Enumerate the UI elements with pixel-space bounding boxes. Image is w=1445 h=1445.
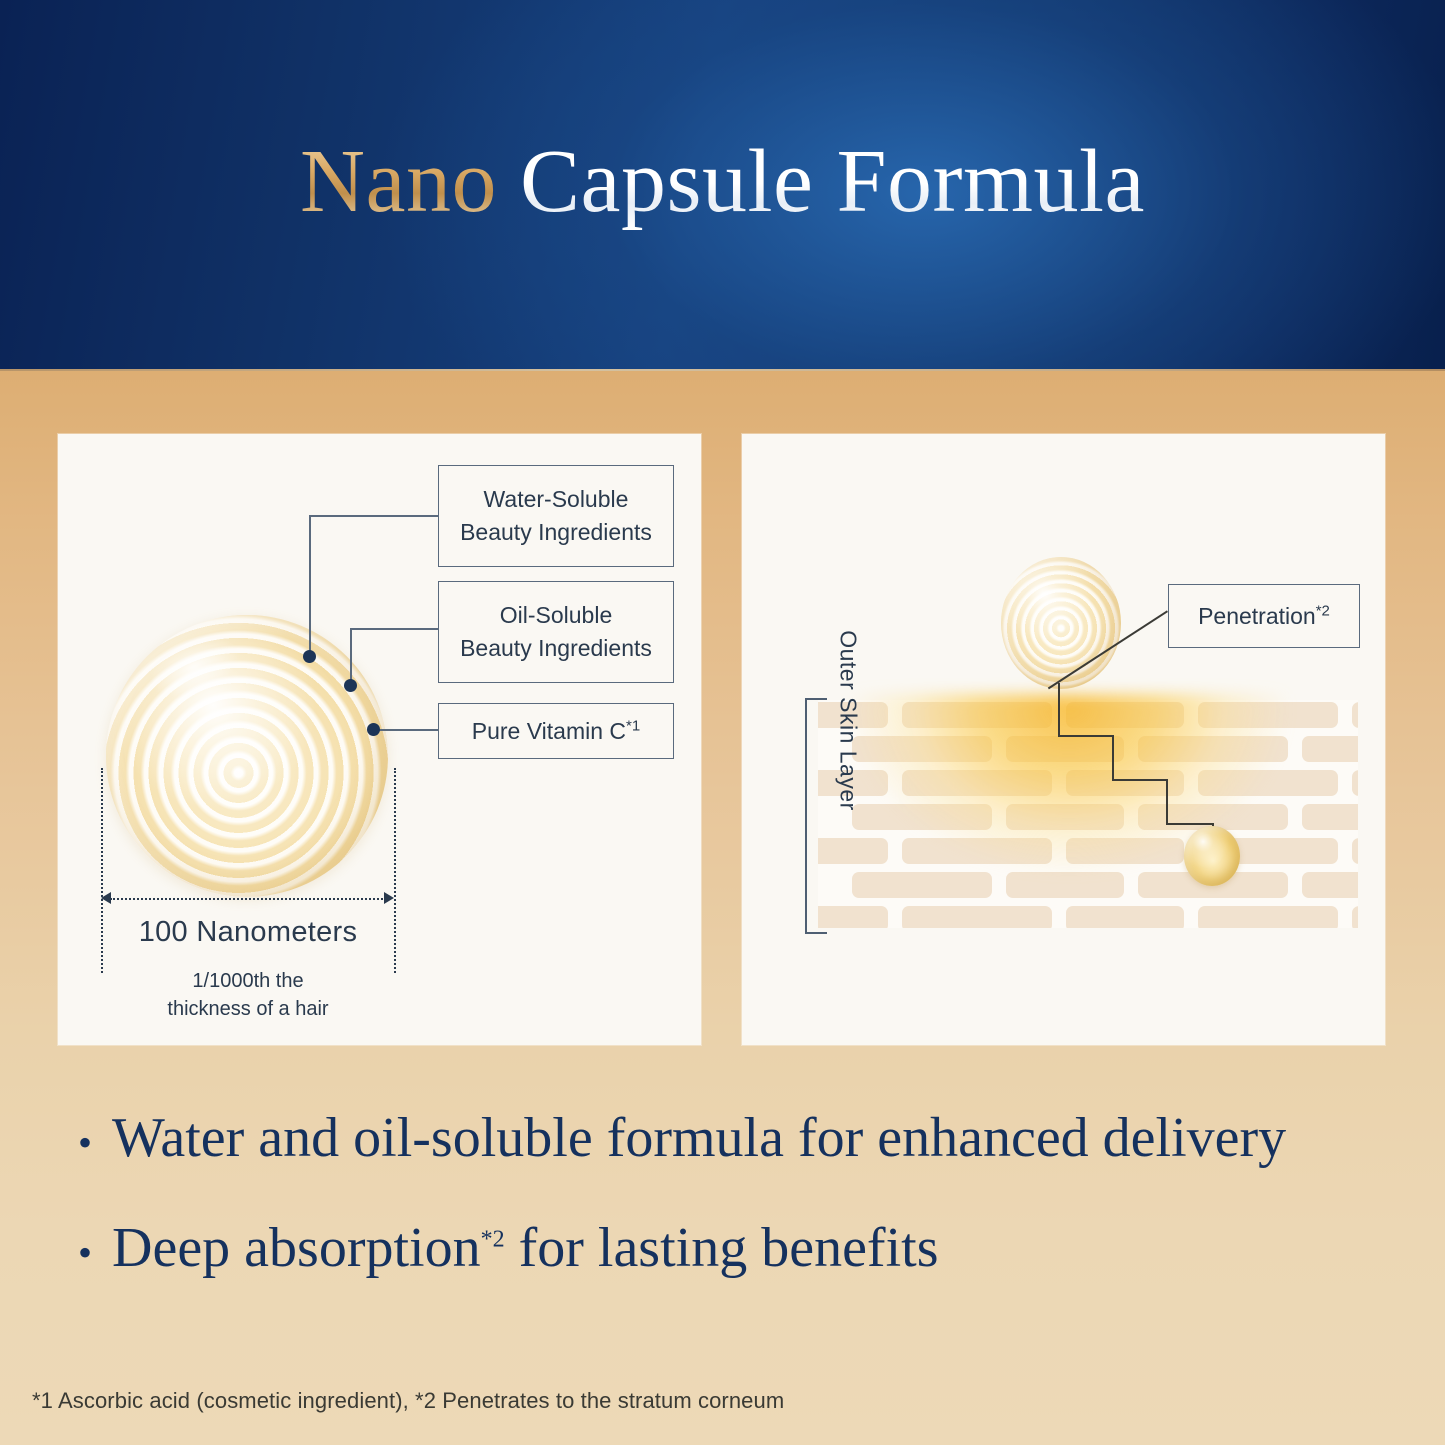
skin-brick (902, 702, 1052, 728)
path-seg-4-horizontal (1112, 779, 1168, 781)
infographic-page: Nano Capsule Formula Water-Soluble Beaut… (0, 0, 1445, 1445)
skin-brick (852, 804, 992, 830)
benefits-list: • Water and oil-soluble formula for enha… (78, 1108, 1378, 1279)
measure-sublabel-line2: thickness of a hair (167, 998, 328, 1020)
skin-brick (852, 736, 992, 762)
skin-brick (1198, 770, 1338, 796)
bullet-text-before: Deep absorption (112, 1217, 481, 1279)
bullet-footnote-marker: *2 (481, 1226, 505, 1252)
label-vitc-footnote-marker: *1 (626, 717, 640, 734)
bullet-marker: • (78, 1233, 92, 1273)
skin-brick (902, 838, 1052, 864)
bullet-marker: • (78, 1123, 92, 1163)
skin-layer-bracket (805, 698, 827, 934)
measure-arrow-right (384, 892, 394, 904)
label-water-soluble[interactable]: Water-Soluble Beauty Ingredients (438, 465, 674, 567)
label-oil-soluble-text: Oil-Soluble Beauty Ingredients (460, 599, 652, 664)
label-penetration-footnote-marker: *2 (1316, 602, 1330, 619)
label-vitc-main: Pure Vitamin C (472, 718, 626, 744)
skin-brick (1066, 702, 1184, 728)
label-penetration-main: Penetration (1198, 603, 1316, 629)
title-gold-word: Nano (300, 132, 497, 231)
skin-brick (1198, 702, 1338, 728)
connector-vitc-horizontal (373, 729, 439, 731)
label-penetration-text: Penetration*2 (1198, 600, 1330, 633)
path-seg-2-horizontal (1058, 735, 1114, 737)
skin-brick (852, 872, 992, 898)
label-water-line2: Beauty Ingredients (460, 519, 652, 545)
label-pure-vitamin-c[interactable]: Pure Vitamin C*1 (438, 703, 674, 759)
label-oil-line2: Beauty Ingredients (460, 635, 652, 661)
skin-brick (902, 770, 1052, 796)
skin-brick (818, 838, 888, 864)
measure-value: 100 Nanometers (100, 916, 396, 949)
connector-water-horizontal (309, 515, 439, 517)
connector-oil-horizontal (350, 628, 439, 630)
label-water-line1: Water-Soluble (484, 486, 629, 512)
skin-brick (818, 906, 888, 928)
label-oil-line1: Oil-Soluble (500, 602, 613, 628)
skin-brick (1352, 770, 1358, 796)
skin-brick (1006, 804, 1124, 830)
connector-dot-vitc (367, 723, 380, 736)
skin-brick (1302, 736, 1358, 762)
connector-dot-oil (344, 679, 357, 692)
measure-dimension-line (110, 898, 386, 900)
connector-dot-water (303, 650, 316, 663)
skin-brick (1302, 804, 1358, 830)
path-seg-1-vertical (1058, 683, 1060, 737)
path-seg-3-vertical (1112, 735, 1114, 781)
measure-arrow-left (101, 892, 111, 904)
footnote: *1 Ascorbic acid (cosmetic ingredient), … (32, 1388, 784, 1414)
skin-brick (1138, 736, 1288, 762)
skin-brick (1352, 906, 1358, 928)
path-seg-5-vertical (1166, 779, 1168, 825)
measure-sublabel-line1: 1/1000th the (192, 970, 303, 992)
skin-brick (1352, 702, 1358, 728)
list-item: • Water and oil-soluble formula for enha… (78, 1108, 1378, 1170)
label-water-soluble-text: Water-Soluble Beauty Ingredients (460, 483, 652, 548)
skin-brick (1198, 906, 1338, 928)
label-penetration[interactable]: Penetration*2 (1168, 584, 1360, 648)
label-oil-soluble[interactable]: Oil-Soluble Beauty Ingredients (438, 581, 674, 683)
bullet-text-after: for lasting benefits (505, 1217, 939, 1279)
skin-brick (1006, 736, 1124, 762)
absorbed-capsule (1184, 826, 1240, 886)
measure-sublabel: 1/1000th the thickness of a hair (100, 968, 396, 1023)
bullet-text: Deep absorption*2 for lasting benefits (112, 1218, 938, 1280)
penetrating-capsule (1001, 557, 1121, 689)
list-item: • Deep absorption*2 for lasting benefits (78, 1218, 1378, 1280)
path-seg-6-horizontal (1166, 823, 1214, 825)
skin-brick (1066, 906, 1184, 928)
skin-brick (1066, 838, 1184, 864)
bullet-text: Water and oil-soluble formula for enhanc… (112, 1108, 1286, 1170)
skin-layer-label: Outer Skin Layer (835, 614, 862, 828)
skin-brick (1006, 872, 1124, 898)
connector-water-vertical (309, 516, 311, 658)
skin-brick (1352, 838, 1358, 864)
skin-brick (902, 906, 1052, 928)
nano-capsule-illustration (106, 615, 388, 897)
title-white-words: Capsule Formula (497, 132, 1145, 231)
label-vitc-text: Pure Vitamin C*1 (472, 715, 640, 748)
skin-brick (1302, 872, 1358, 898)
page-title: Nano Capsule Formula (0, 132, 1445, 233)
connector-oil-vertical (350, 629, 352, 686)
